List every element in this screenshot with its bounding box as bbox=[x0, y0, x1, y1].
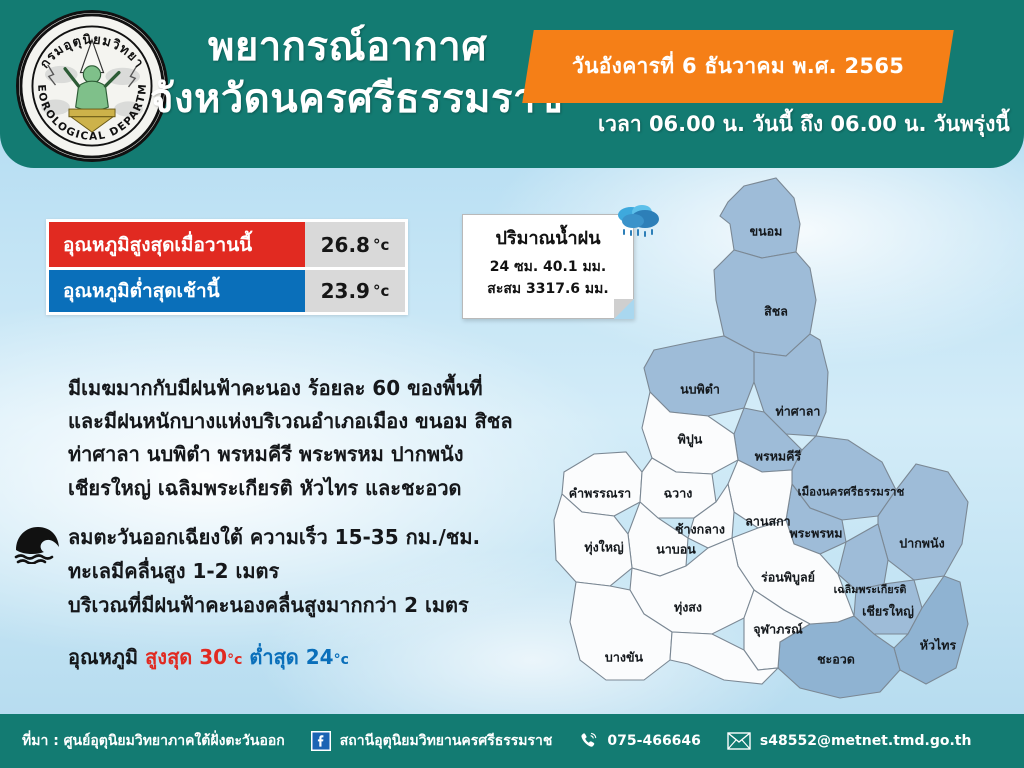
district-label-chawang: ฉวาง bbox=[664, 486, 693, 501]
facebook-icon[interactable] bbox=[311, 731, 331, 751]
district-label-huasai: หัวไทร bbox=[920, 638, 957, 653]
rainfall-24h: 24 ซม. 40.1 มม. bbox=[463, 257, 633, 279]
district-label-lansaka: ลานสกา bbox=[745, 514, 790, 529]
footer-email[interactable]: s48552@metnet.tmd.go.th bbox=[727, 732, 972, 750]
district-label-phipun: พิปูน bbox=[678, 432, 703, 448]
rainfall-accumulated: สะสม 3317.6 มม. bbox=[463, 279, 633, 301]
footer-phone-number[interactable]: 075-466646 bbox=[607, 733, 700, 749]
district-label-mueang: เมืองนครศรีธรรมราช bbox=[798, 485, 905, 499]
min-temp-value: 23.9 °c bbox=[305, 270, 405, 312]
marine-description: ลมตะวันออกเฉียงใต้ ความเร็ว 15-35 กม./ชม… bbox=[68, 520, 628, 622]
marine-line: บริเวณที่มีฝนฟ้าคะนองคลื่นสูงมากกว่า 2 เ… bbox=[68, 588, 628, 622]
temp-summary-max-value: 30 bbox=[199, 645, 227, 669]
rain-cloud-icon bbox=[611, 201, 669, 245]
forecast-line: เชียรใหญ่ เฉลิมพระเกียรติ หัวไทร และชะอว… bbox=[68, 472, 588, 505]
max-temp-label: อุณหภูมิสูงสุดเมื่อวานนี้ bbox=[49, 222, 305, 267]
district-label-thungsong: ทุ่งสง bbox=[674, 600, 702, 616]
district-shape-khanom bbox=[720, 178, 800, 258]
weather-infographic: กรมอุตุนิยมวิทยา METEOROLOGICAL DEPARTME… bbox=[0, 0, 1024, 768]
forecast-description: มีเมฆมากกับมีฝนฟ้าคะนอง ร้อยละ 60 ของพื้… bbox=[68, 372, 588, 505]
district-label-chaloemphrakiat: เฉลิมพระเกียรติ bbox=[834, 583, 907, 596]
footer-source: ที่มา : ศูนย์อุตุนิยมวิทยาภาคใต้ฝั่งตะวั… bbox=[22, 730, 285, 752]
min-temp-number: 23.9 bbox=[321, 279, 370, 303]
district-label-khanom: ขนอม bbox=[750, 224, 783, 239]
rainfall-note-card: ปริมาณน้ำฝน 24 ซม. 40.1 มม. สะสม 3317.6 … bbox=[462, 214, 634, 319]
time-range-label: เวลา 06.00 น. วันนี้ ถึง 06.00 น. วันพรุ… bbox=[598, 108, 1010, 141]
district-label-bangkhan: บางขัน bbox=[605, 650, 644, 665]
temperature-table: อุณหภูมิสูงสุดเมื่อวานนี้ 26.8 °c อุณหภู… bbox=[46, 219, 408, 315]
district-label-changklang: ช้างกลาง bbox=[675, 522, 725, 537]
temp-summary-min-unit: °c bbox=[334, 652, 349, 668]
district-label-chulabhorn: จุฬาภรณ์ bbox=[753, 622, 803, 638]
date-badge: วันอังคารที่ 6 ธันวาคม พ.ศ. 2565 bbox=[522, 30, 954, 103]
header-bar: กรมอุตุนิยมวิทยา METEOROLOGICAL DEPARTME… bbox=[0, 0, 1024, 168]
district-label-chianyai: เชียรใหญ่ bbox=[862, 604, 914, 619]
district-label-chauat: ชะอวด bbox=[817, 652, 855, 667]
date-badge-text: วันอังคารที่ 6 ธันวาคม พ.ศ. 2565 bbox=[572, 50, 904, 83]
table-row: อุณหภูมิต่ำสุดเช้านี้ 23.9 °c bbox=[49, 267, 405, 312]
temperature-summary: อุณหภูมิ สูงสุด 30°c ต่ำสุด 24°c bbox=[68, 641, 349, 673]
max-temp-unit: °c bbox=[373, 236, 389, 254]
district-label-phraphrom: พระพรหม bbox=[789, 526, 842, 541]
district-shape-chaloemphrakiat bbox=[838, 524, 888, 590]
envelope-icon bbox=[727, 732, 751, 750]
district-label-thasala: ท่าศาลา bbox=[776, 404, 821, 419]
forecast-line: มีเมฆมากกับมีฝนฟ้าคะนอง ร้อยละ 60 ของพื้… bbox=[68, 372, 588, 405]
forecast-line: และมีฝนหนักบางแห่งบริเวณอำเภอเมือง ขนอม … bbox=[68, 405, 588, 438]
min-temp-unit: °c bbox=[373, 282, 389, 300]
district-label-nabon: นาบอน bbox=[656, 542, 696, 557]
temp-summary-max-label: สูงสุด bbox=[145, 645, 192, 669]
footer-phone[interactable]: 075-466646 bbox=[578, 731, 700, 751]
temp-summary-min-label: ต่ำสุด bbox=[249, 645, 298, 669]
min-temp-label: อุณหภูมิต่ำสุดเช้านี้ bbox=[49, 270, 305, 312]
district-label-nopphitam: นบพิตำ bbox=[680, 382, 720, 397]
temp-summary-prefix: อุณหภูมิ bbox=[68, 645, 138, 669]
wave-icon bbox=[14, 524, 62, 564]
marine-line: ทะเลมีคลื่นสูง 1-2 เมตร bbox=[68, 554, 628, 588]
max-temp-value: 26.8 °c bbox=[305, 222, 405, 267]
tmd-logo: กรมอุตุนิยมวิทยา METEOROLOGICAL DEPARTME… bbox=[16, 10, 168, 162]
temp-summary-min-value: 24 bbox=[306, 645, 334, 669]
district-label-sichon: สิชล bbox=[764, 304, 788, 319]
footer-facebook[interactable]: สถานีอุตุนิยมวิทยานครศรีธรรมราช bbox=[311, 730, 553, 752]
footer-facebook-label[interactable]: สถานีอุตุนิยมวิทยานครศรีธรรมราช bbox=[340, 730, 553, 752]
max-temp-number: 26.8 bbox=[321, 233, 370, 257]
footer-bar: ที่มา : ศูนย์อุตุนิยมวิทยาภาคใต้ฝั่งตะวั… bbox=[0, 714, 1024, 768]
rainfall-title: ปริมาณน้ำฝน bbox=[463, 223, 633, 252]
footer-email-address[interactable]: s48552@metnet.tmd.go.th bbox=[760, 733, 972, 749]
temp-summary-max-unit: °c bbox=[227, 652, 242, 668]
marine-line: ลมตะวันออกเฉียงใต้ ความเร็ว 15-35 กม./ชม… bbox=[68, 520, 628, 554]
district-label-phrommakhiri: พรหมคีรี bbox=[755, 449, 802, 464]
footer-source-label: ที่มา : ศูนย์อุตุนิยมวิทยาภาคใต้ฝั่งตะวั… bbox=[22, 730, 285, 752]
forecast-line: ท่าศาลา นบพิตำ พรหมคีรี พระพรหม ปากพนัง bbox=[68, 438, 588, 471]
phone-icon bbox=[578, 731, 598, 751]
table-row: อุณหภูมิสูงสุดเมื่อวานนี้ 26.8 °c bbox=[49, 222, 405, 267]
district-label-ronphibun: ร่อนพิบูลย์ bbox=[761, 570, 815, 586]
district-label-pakphanang: ปากพนัง bbox=[899, 536, 944, 551]
